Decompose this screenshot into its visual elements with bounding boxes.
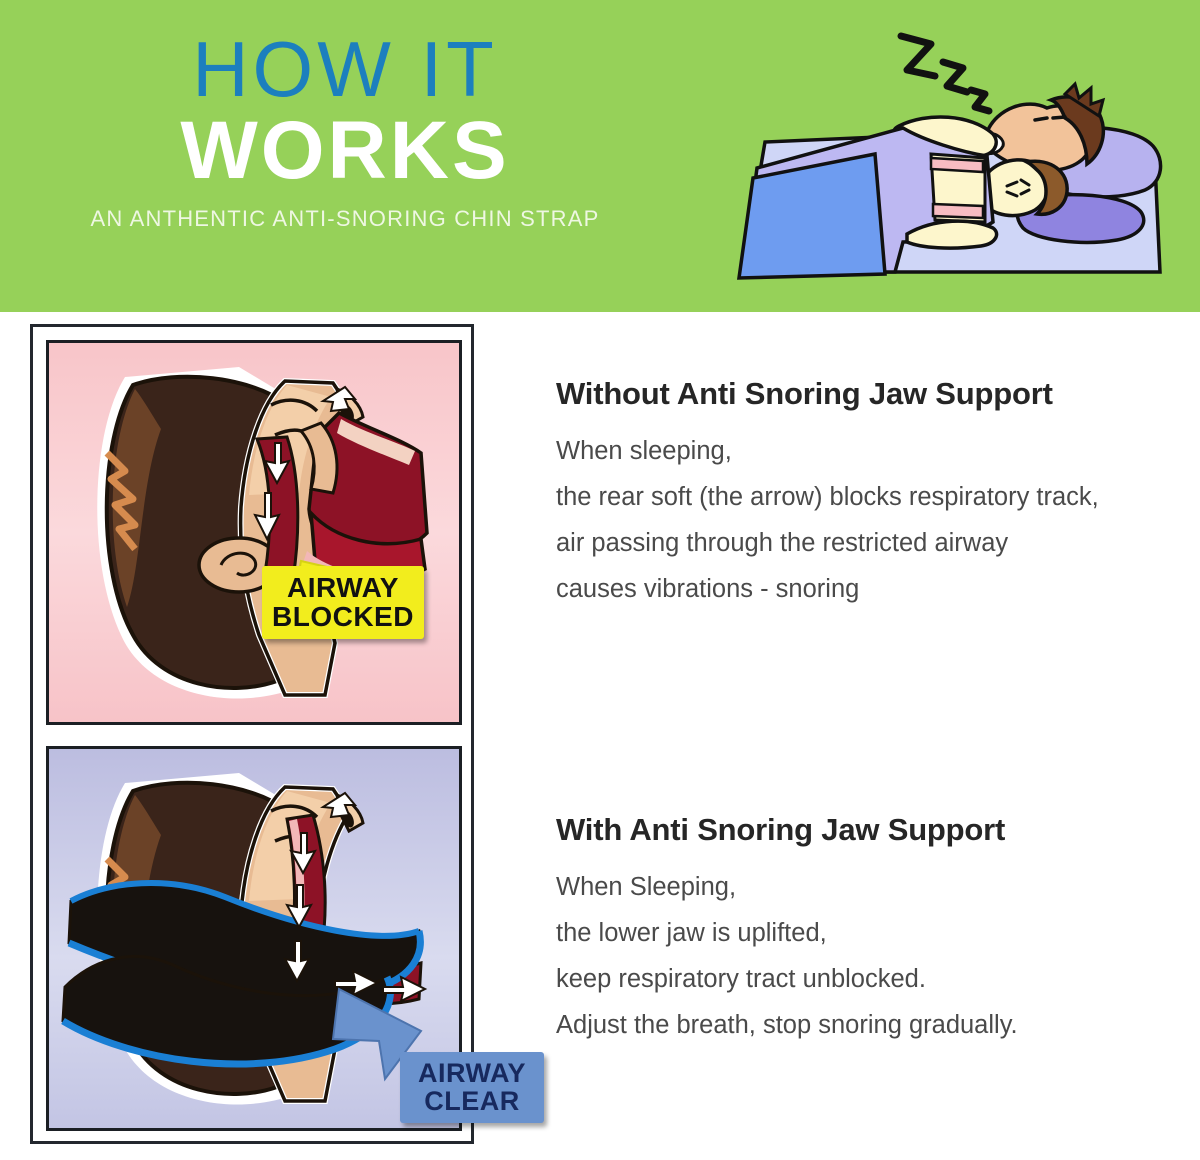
- page-subtitle: AN ANTHENTIC ANTI-SNORING CHIN STRAP: [0, 206, 690, 232]
- section-line: When sleeping,: [556, 428, 1196, 474]
- callout-airway-clear: AIRWAY CLEAR: [400, 1052, 544, 1123]
- illustration-frame: [30, 324, 474, 1144]
- panel-without-support: [46, 340, 462, 725]
- callout-clear-line2: CLEAR: [406, 1088, 538, 1116]
- section-line: the rear soft (the arrow) blocks respira…: [556, 474, 1196, 520]
- page-title-line1: HOW IT: [0, 28, 690, 110]
- section-line: When Sleeping,: [556, 864, 1196, 910]
- infographic-page: HOW IT WORKS AN ANTHENTIC ANTI-SNORING C…: [0, 0, 1200, 1160]
- section-line: air passing through the restricted airwa…: [556, 520, 1196, 566]
- section-line: keep respiratory tract unblocked.: [556, 956, 1196, 1002]
- sleeping-couple-icon: [735, 22, 1175, 292]
- section-title: Without Anti Snoring Jaw Support: [556, 374, 1196, 414]
- callout-blocked-line1: AIRWAY: [268, 574, 418, 603]
- callout-clear-line1: AIRWAY: [406, 1060, 538, 1088]
- snore-z-marks: [901, 36, 989, 111]
- section-line: Adjust the breath, stop snoring graduall…: [556, 1002, 1196, 1048]
- callout-airway-blocked: AIRWAY BLOCKED: [262, 566, 424, 639]
- header-banner: HOW IT WORKS AN ANTHENTIC ANTI-SNORING C…: [0, 0, 1200, 312]
- callout-blocked-line2: BLOCKED: [268, 603, 418, 632]
- title-group: HOW IT WORKS AN ANTHENTIC ANTI-SNORING C…: [0, 28, 690, 232]
- section-title: With Anti Snoring Jaw Support: [556, 810, 1196, 850]
- section-without-support: Without Anti Snoring Jaw Support When sl…: [556, 374, 1196, 612]
- section-line: causes vibrations - snoring: [556, 566, 1196, 612]
- page-title-line2: WORKS: [0, 106, 690, 196]
- section-with-support: With Anti Snoring Jaw Support When Sleep…: [556, 810, 1196, 1048]
- section-line: the lower jaw is uplifted,: [556, 910, 1196, 956]
